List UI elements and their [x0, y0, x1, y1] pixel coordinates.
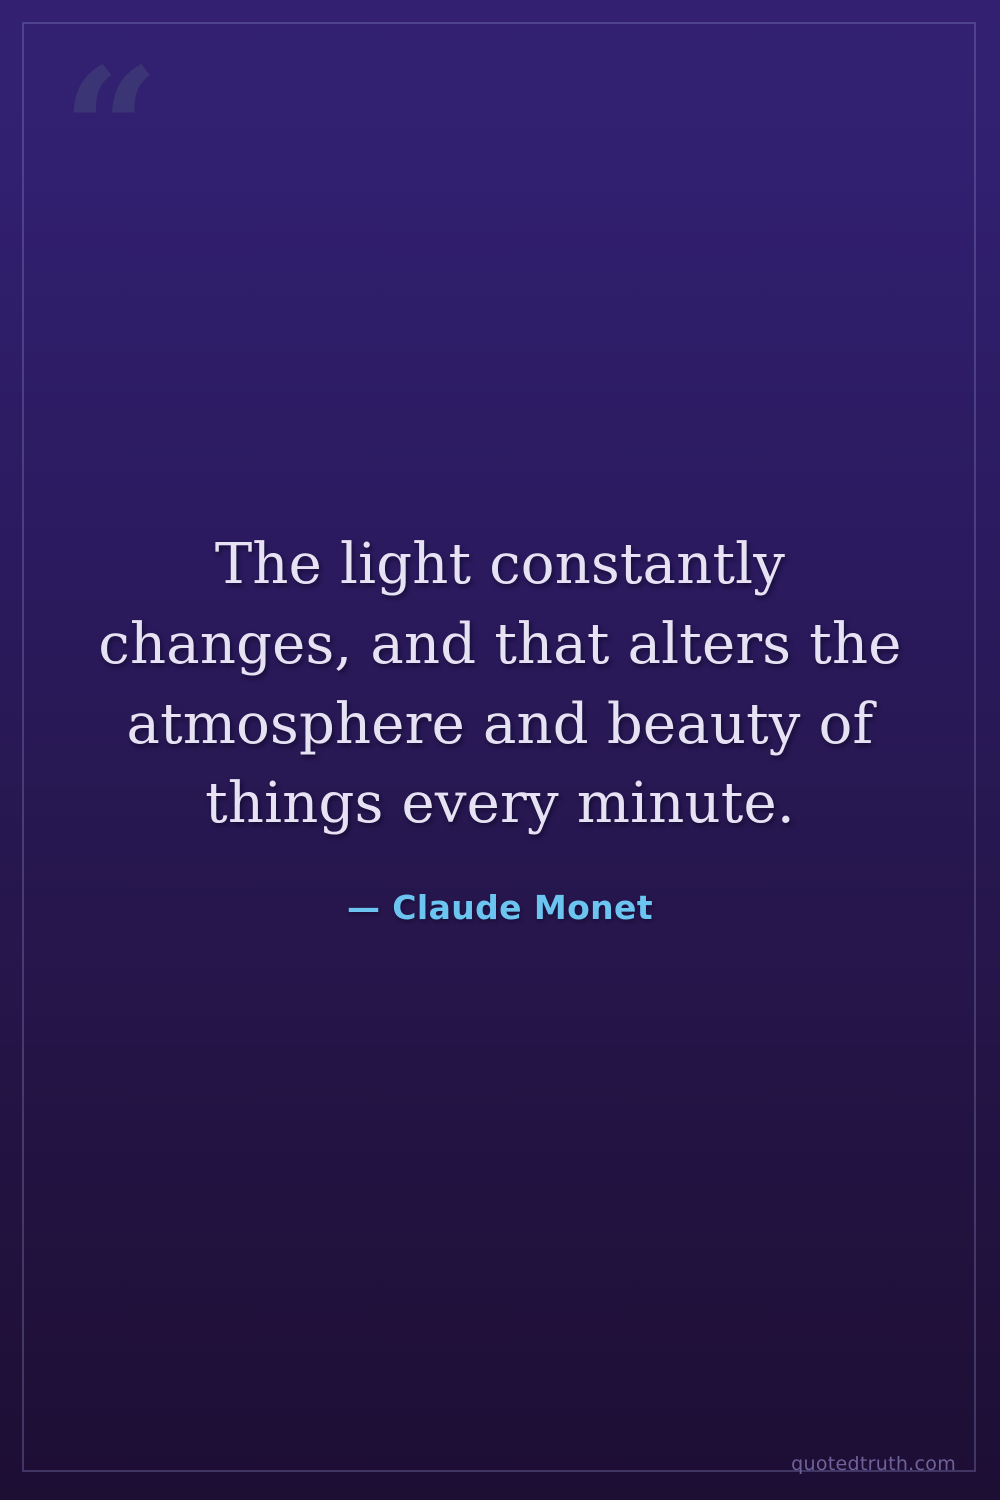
quote-content-stack: The light constantly changes, and that a… [0, 0, 1000, 1500]
site-watermark: quotedtruth.com [791, 1453, 956, 1475]
quote-card: “ The light constantly changes, and that… [0, 0, 1000, 1500]
quote-attribution: — Claude Monet [347, 888, 653, 927]
quote-text: The light constantly changes, and that a… [80, 525, 920, 843]
